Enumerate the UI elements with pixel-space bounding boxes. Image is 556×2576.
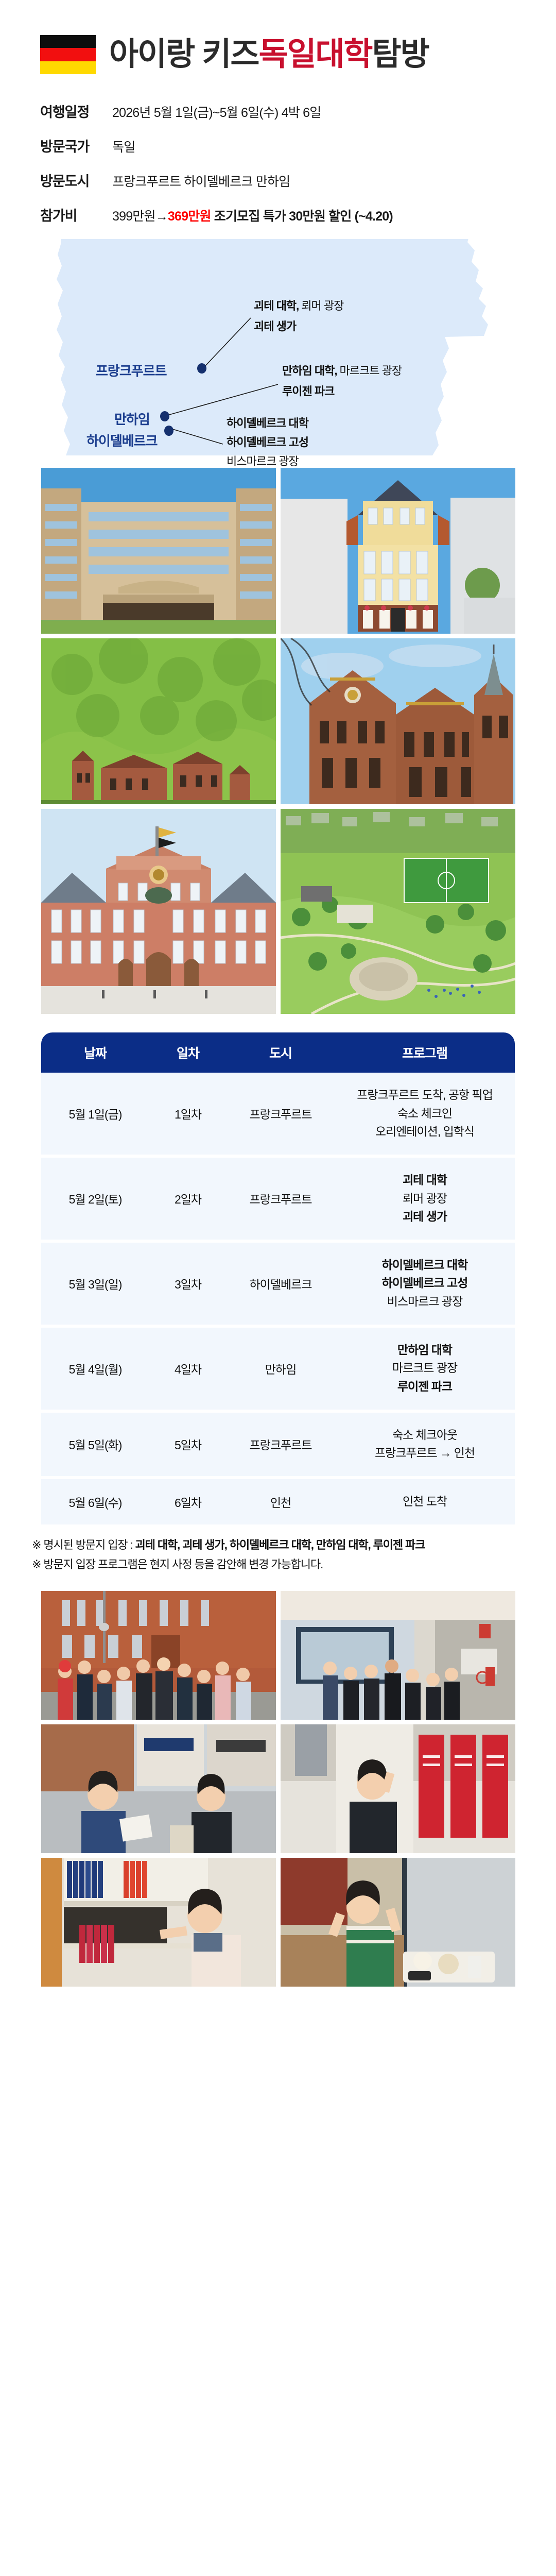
info-label-cities: 방문도시 [40, 170, 112, 190]
page-header: 아이랑 키즈독일대학탐방 [0, 0, 556, 74]
cell-program: 숙소 체크아웃 프랑크푸르트 → 인천 [335, 1413, 515, 1479]
cell-program: 만하임 대학 마르크트 광장 루이젠 파크 [335, 1328, 515, 1413]
map-callout-mannheim-univ: 만하임 대학, 마르크트 광장 [282, 362, 402, 378]
map-city-frankfurt: 프랑크푸르트 [96, 361, 167, 380]
footnote-subject-to-change: ※ 방문지 입장 프로그램은 현지 사정 등을 감안해 변경 가능합니다. [32, 1556, 525, 1573]
cell-city: 프랑크푸르트 [227, 1158, 335, 1243]
col-header-program: 프로그램 [335, 1032, 515, 1073]
cell-program: 하이델베르크 대학 하이델베르크 고성 비스마르크 광장 [335, 1243, 515, 1328]
price-promo-note: 조기모집 특가 30만원 할인 (~4.20) [214, 209, 393, 224]
cell-day: 2일차 [149, 1158, 227, 1243]
cell-date: 5월 6일(수) [41, 1479, 149, 1524]
page-title: 아이랑 키즈독일대학탐방 [109, 39, 429, 71]
map-city-heidelberg: 하이델베르크 [86, 431, 158, 450]
cell-day: 1일차 [149, 1073, 227, 1158]
group-photo-orientalisches-seminar [281, 1591, 515, 1720]
map-callout-goethe-house: 괴테 생가 [254, 317, 296, 334]
cell-date: 5월 4일(월) [41, 1328, 149, 1413]
cell-day: 6일차 [149, 1479, 227, 1524]
title-prefix: 아이랑 키즈 [109, 37, 258, 72]
cell-day: 4일차 [149, 1328, 227, 1413]
table-row: 5월 6일(수) 6일차 인천 인천 도착 [41, 1479, 515, 1524]
map-callout-goethe-univ: 괴테 대학, 뢰머 광장 [254, 297, 343, 313]
col-header-city: 도시 [227, 1032, 335, 1073]
library-bookshelf-photo [41, 1858, 276, 1987]
table-row: 5월 3일(일) 3일차 하이델베르크 하이델베르크 대학 하이델베르크 고성 … [41, 1243, 515, 1328]
col-header-day: 일차 [149, 1032, 227, 1073]
group-photo-heidelberg-university [41, 1591, 276, 1720]
info-label-schedule: 여행일정 [40, 101, 112, 121]
luisenpark-aerial-photo [281, 809, 515, 1014]
cell-program: 괴테 대학 뢰머 광장 괴테 생가 [335, 1158, 515, 1243]
goethe-house-photo [281, 468, 515, 634]
schedule-table-wrapper: 날짜 일차 도시 프로그램 5월 1일(금) 1일차 프랑크푸르트 프랑크푸르트… [41, 1032, 515, 1524]
price-original: 399만원→ [112, 209, 168, 224]
title-accent: 독일대학 [258, 37, 372, 72]
cell-date: 5월 2일(토) [41, 1158, 149, 1243]
cell-date: 5월 5일(화) [41, 1413, 149, 1479]
cell-day: 5일차 [149, 1413, 227, 1479]
heidelberg-university-facade-photo [281, 638, 515, 804]
map-marker-heidelberg [164, 426, 173, 436]
info-value-price: 399만원→369만원 조기모집 특가 30만원 할인 (~4.20) [112, 206, 393, 225]
title-suffix: 탐방 [372, 37, 429, 72]
cell-date: 5월 1일(금) [41, 1073, 149, 1158]
germany-map-diagram: 프랑크푸르트 만하임 하이델베르크 괴테 대학, 뢰머 광장 괴테 생가 만하임… [0, 239, 556, 455]
map-callout-heidelberg-castle: 하이델베르크 고성 [227, 433, 308, 450]
cafeteria-meal-photo [281, 1858, 515, 1987]
footnote-included-entries: ※ 명시된 방문지 입장 : 괴테 대학, 괴테 생가, 하이델베르크 대학, … [32, 1537, 525, 1553]
goethe-university-building-photo [41, 468, 276, 634]
cell-program: 인천 도착 [335, 1479, 515, 1524]
table-row: 5월 5일(화) 5일차 프랑크푸르트 숙소 체크아웃 프랑크푸르트 → 인천 [41, 1413, 515, 1479]
cell-city: 프랑크푸르트 [227, 1413, 335, 1479]
student-banner-posing-photo [281, 1724, 515, 1853]
table-header-row: 날짜 일차 도시 프로그램 [41, 1032, 515, 1073]
cell-city: 만하임 [227, 1328, 335, 1413]
heidelberg-castle-photo [41, 638, 276, 804]
info-value-cities: 프랑크푸르트 하이델베르크 만하임 [112, 172, 290, 190]
landmark-photo-grid [0, 468, 556, 1014]
germany-flag-icon [40, 35, 96, 74]
cell-program: 프랑크푸르트 도착, 공항 픽업 숙소 체크인 오리엔테이션, 입학식 [335, 1073, 515, 1158]
cell-day: 3일차 [149, 1243, 227, 1328]
col-header-date: 날짜 [41, 1032, 149, 1073]
map-marker-mannheim [160, 411, 169, 421]
map-callout-bismarckplatz: 비스마르크 광장 [227, 452, 299, 469]
mannheim-palace-photo [41, 809, 276, 1014]
info-row-country: 방문국가 독일 [40, 135, 556, 156]
map-marker-frankfurt [197, 363, 206, 374]
map-callout-luisenpark: 루이젠 파크 [282, 382, 334, 399]
table-row: 5월 4일(월) 4일차 만하임 만하임 대학 마르크트 광장 루이젠 파크 [41, 1328, 515, 1413]
info-label-country: 방문국가 [40, 135, 112, 156]
info-label-price: 참가비 [40, 205, 112, 225]
schedule-table: 날짜 일차 도시 프로그램 5월 1일(금) 1일차 프랑크푸르트 프랑크푸르트… [41, 1032, 515, 1524]
info-value-country: 독일 [112, 137, 135, 156]
table-row: 5월 2일(토) 2일차 프랑크푸르트 괴테 대학 뢰머 광장 괴테 생가 [41, 1158, 515, 1243]
cell-city: 하이델베르크 [227, 1243, 335, 1328]
cell-city: 인천 [227, 1479, 335, 1524]
info-row-price: 참가비 399만원→369만원 조기모집 특가 30만원 할인 (~4.20) [40, 205, 556, 225]
price-discounted: 369만원 [168, 209, 211, 224]
cell-date: 5월 3일(일) [41, 1243, 149, 1328]
student-street-interview-photo [41, 1724, 276, 1853]
info-value-schedule: 2026년 5월 1일(금)~5월 6일(수) 4박 6일 [112, 103, 321, 121]
map-callout-heidelberg-univ: 하이델베르크 대학 [227, 414, 308, 431]
table-row: 5월 1일(금) 1일차 프랑크푸르트 프랑크푸르트 도착, 공항 픽업 숙소 … [41, 1073, 515, 1158]
cell-city: 프랑크푸르트 [227, 1073, 335, 1158]
footnotes: ※ 명시된 방문지 입장 : 괴테 대학, 괴테 생가, 하이델베르크 대학, … [31, 1537, 525, 1573]
trip-photo-grid [0, 1591, 556, 1987]
map-city-mannheim: 만하임 [114, 409, 150, 428]
info-row-schedule: 여행일정 2026년 5월 1일(금)~5월 6일(수) 4박 6일 [40, 101, 556, 121]
info-row-cities: 방문도시 프랑크푸르트 하이델베르크 만하임 [40, 170, 556, 190]
trip-info-block: 여행일정 2026년 5월 1일(금)~5월 6일(수) 4박 6일 방문국가 … [0, 74, 556, 225]
